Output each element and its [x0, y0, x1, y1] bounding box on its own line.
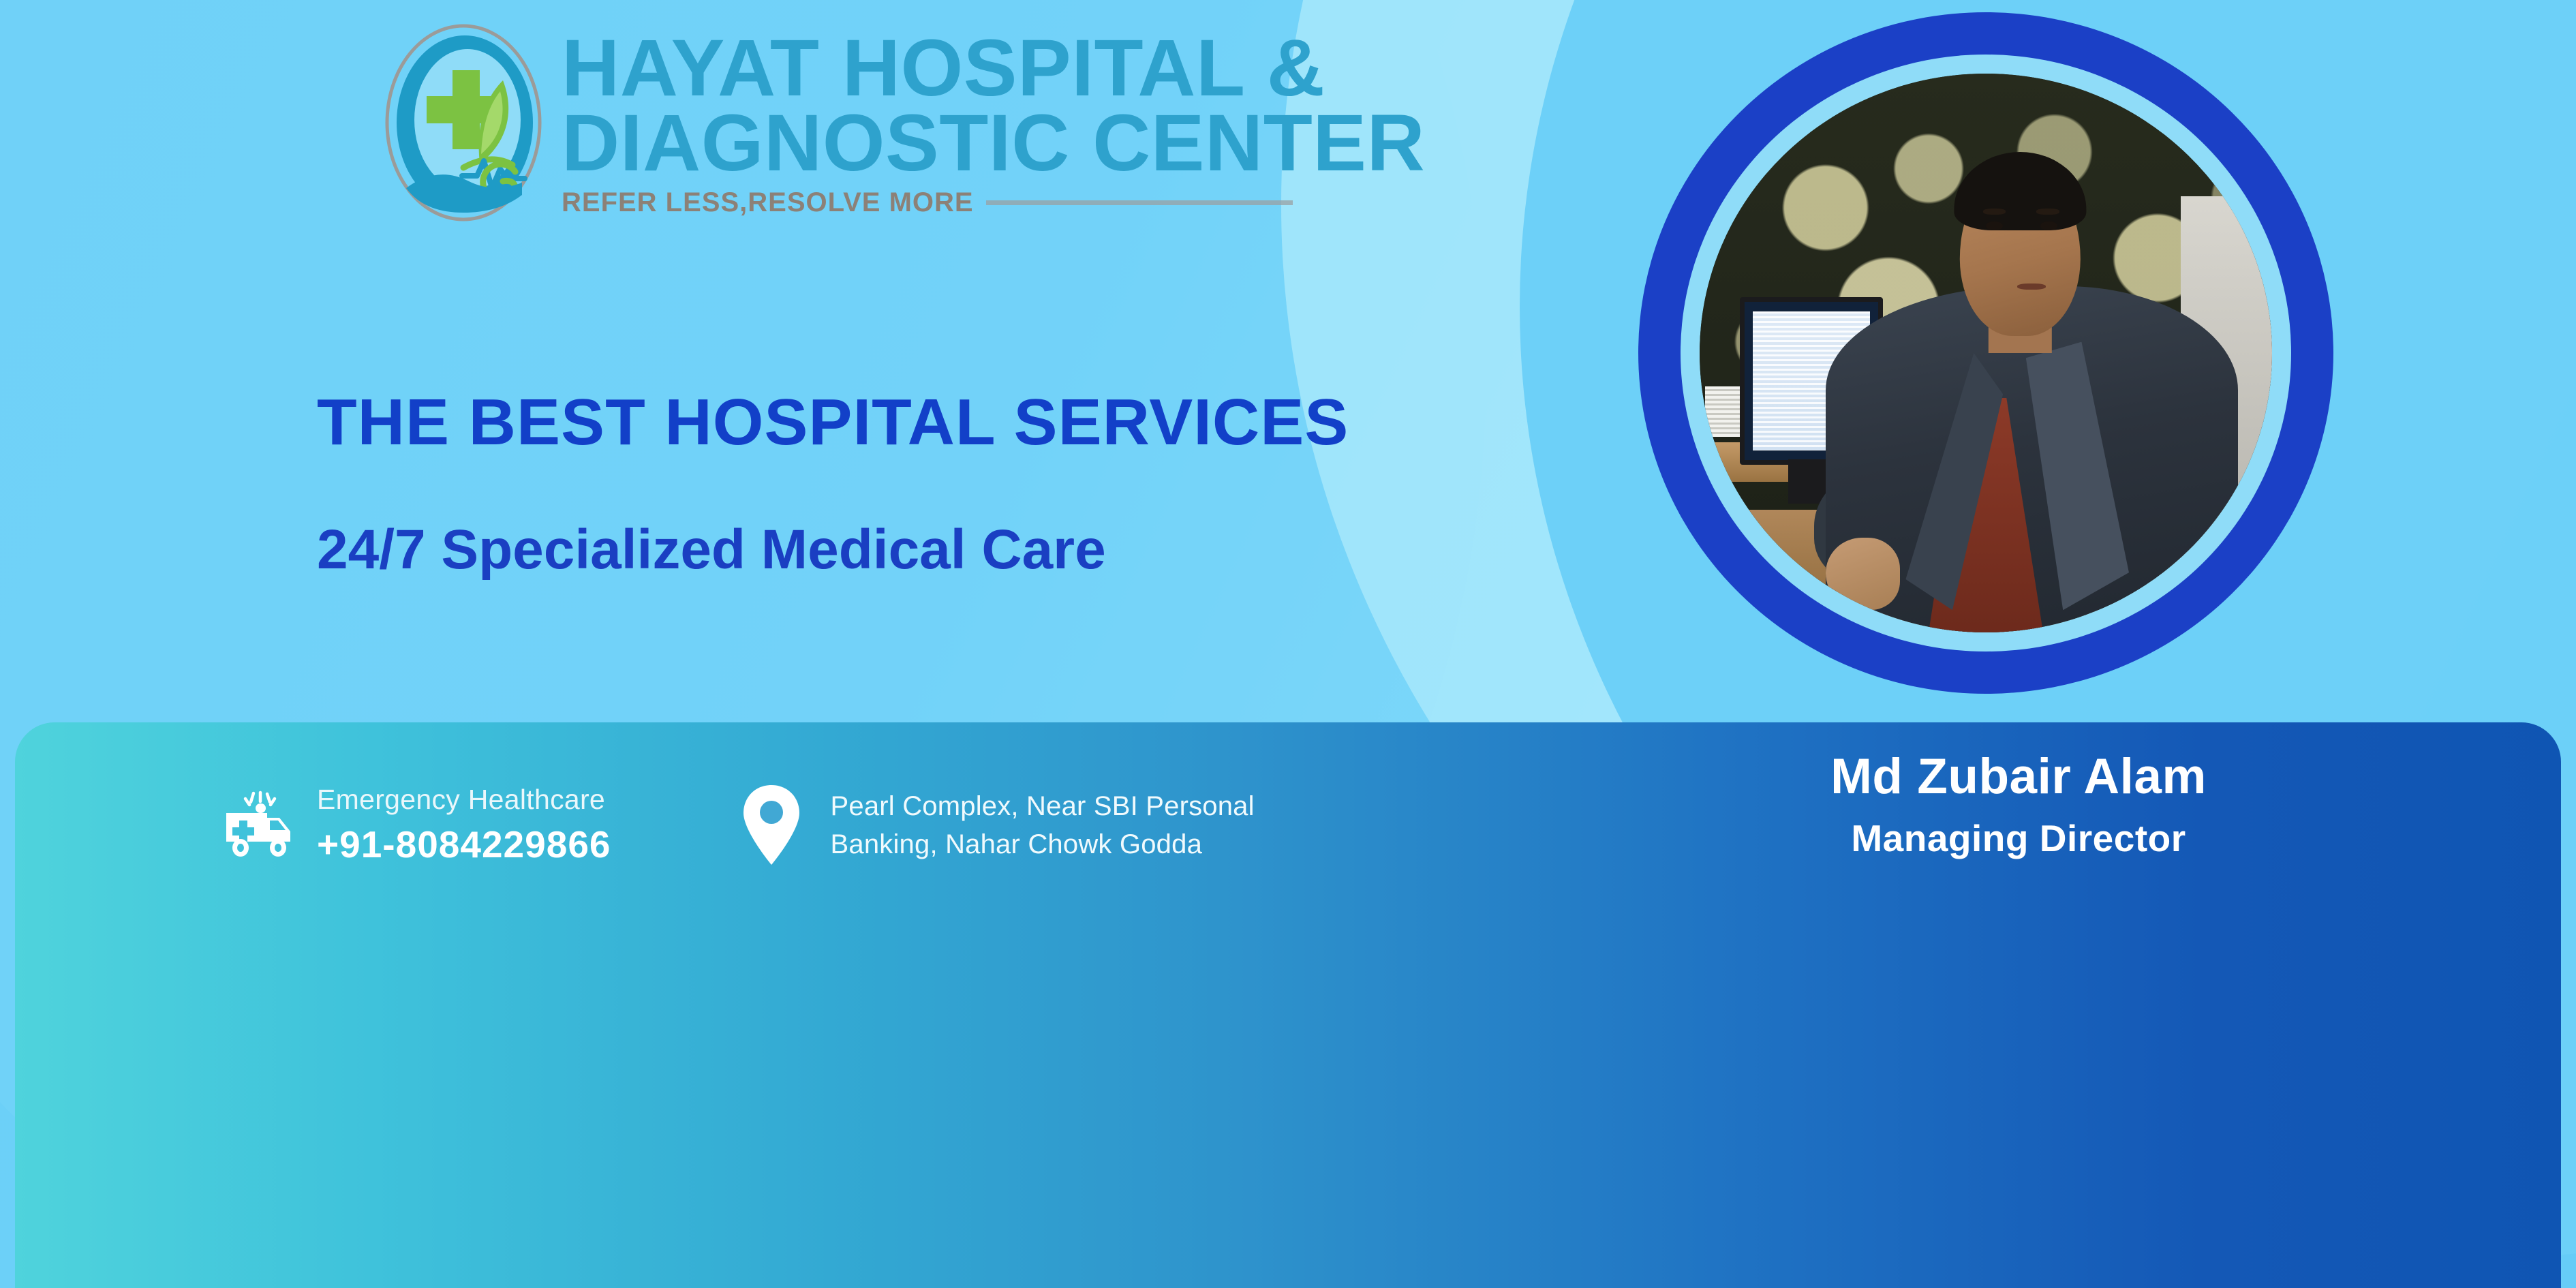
- brand-name-line-2: DIAGNOSTIC CENTER: [562, 106, 1425, 181]
- person-mouth: [2017, 283, 2046, 290]
- emergency-contact[interactable]: Emergency Healthcare +91-8084229866: [219, 784, 611, 866]
- person-eyebrow-right: [2036, 209, 2059, 215]
- director-portrait: [1638, 12, 2333, 694]
- emergency-phone[interactable]: +91-8084229866: [317, 823, 611, 866]
- address-contact[interactable]: Pearl Complex, Near SBI Personal Banking…: [741, 782, 1255, 868]
- director-role: Managing Director: [1760, 816, 2278, 860]
- person-eye-right: [2040, 221, 2057, 230]
- hero-subheadline: 24/7 Specialized Medical Care: [317, 518, 1106, 582]
- brand-wordmark: HAYAT HOSPITAL & DIAGNOSTIC CENTER REFER…: [562, 19, 1425, 218]
- brand-tagline-row: REFER LESS,RESOLVE MORE: [562, 187, 1425, 218]
- address-text-group: Pearl Complex, Near SBI Personal Banking…: [831, 787, 1255, 863]
- brand-name-line-1: HAYAT HOSPITAL &: [562, 31, 1425, 106]
- emergency-label: Emergency Healthcare: [317, 784, 611, 816]
- address-line-1: Pearl Complex, Near SBI Personal: [831, 787, 1255, 825]
- footer-bar: Emergency Healthcare +91-8084229866 Pear…: [15, 722, 2561, 1288]
- medical-cross-leaf-heartbeat-logo: [382, 20, 545, 225]
- brand-logo-block: HAYAT HOSPITAL & DIAGNOSTIC CENTER REFER…: [382, 19, 1425, 225]
- hero-headline: THE BEST HOSPITAL SERVICES: [317, 385, 1349, 460]
- director-info: Md Zubair Alam Managing Director: [1760, 750, 2278, 860]
- tagline-rule: [986, 200, 1293, 205]
- person-eye-left: [1986, 221, 2003, 230]
- person-hand: [1826, 538, 1900, 611]
- brand-tagline: REFER LESS,RESOLVE MORE: [562, 187, 974, 218]
- portrait-photo: [1700, 74, 2272, 632]
- location-pin-icon: [741, 782, 802, 868]
- emergency-text-group: Emergency Healthcare +91-8084229866: [317, 784, 611, 866]
- ambulance-icon: [219, 791, 298, 859]
- footer-contact-row: Emergency Healthcare +91-8084229866 Pear…: [219, 782, 1255, 868]
- address-line-2: Banking, Nahar Chowk Godda: [831, 825, 1255, 863]
- person-eyebrow-left: [1983, 209, 2006, 215]
- director-name: Md Zubair Alam: [1760, 750, 2278, 804]
